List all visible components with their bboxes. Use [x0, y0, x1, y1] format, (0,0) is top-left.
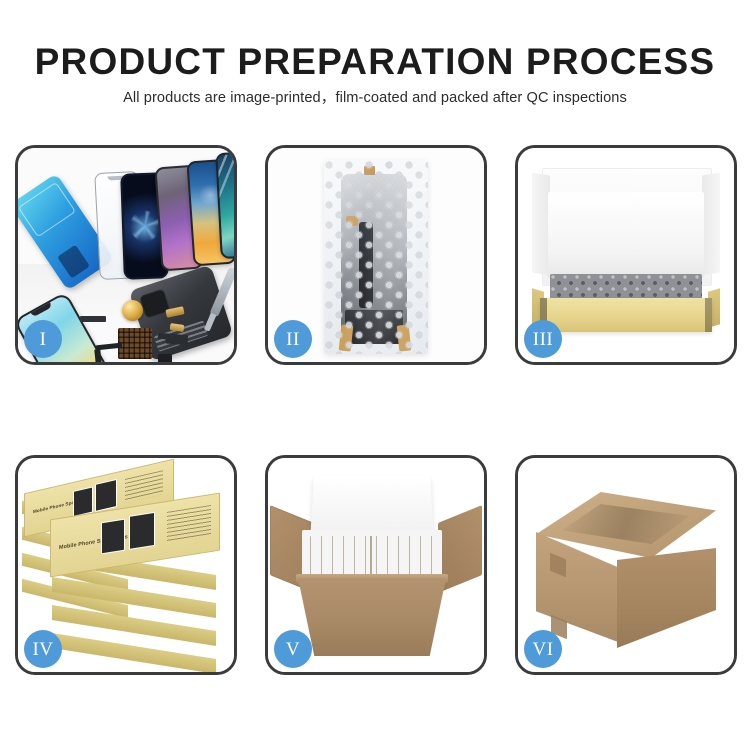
plastic-sheen-layer	[324, 160, 428, 354]
box-window-graphic-3	[101, 519, 125, 555]
box-text-lines-graphic-2	[167, 505, 211, 542]
component-strip-graphic	[80, 316, 106, 322]
camera-module-graphic	[158, 354, 172, 362]
bubble-wrap-bag-graphic	[324, 160, 428, 354]
step-panel-4[interactable]: Mobile Phone Spare Parts Mobile Phone Sp…	[15, 455, 237, 675]
step-panel-6[interactable]: VI	[515, 455, 737, 675]
step-badge-4: IV	[24, 630, 62, 668]
step-badge-2: II	[274, 320, 312, 358]
box-window-graphic-2	[95, 479, 117, 512]
infographic-page: PRODUCT PREPARATION PROCESS All products…	[0, 0, 750, 750]
step-panel-5[interactable]: V	[265, 455, 487, 675]
step-badge-1: I	[24, 320, 62, 358]
process-step-grid: I II	[0, 0, 750, 750]
box-flap-right-graphic	[702, 173, 720, 276]
step-panel-2[interactable]: II	[265, 145, 487, 365]
box-window-graphic-4	[129, 512, 155, 550]
step-panel-1[interactable]: I	[15, 145, 237, 365]
vibration-motor-graphic	[122, 300, 143, 321]
white-foam-sheet-graphic	[548, 192, 704, 278]
grey-foam-padding-graphic	[550, 274, 702, 300]
step-panel-3[interactable]: III	[515, 145, 737, 365]
step-badge-3: III	[524, 320, 562, 358]
box-text-lines-graphic-1	[125, 470, 163, 503]
step-badge-5: V	[274, 630, 312, 668]
logic-board-chip-graphic	[118, 328, 152, 359]
yellow-box-front-graphic	[540, 298, 712, 332]
carton-body-graphic	[298, 578, 446, 656]
step-badge-6: VI	[524, 630, 562, 668]
